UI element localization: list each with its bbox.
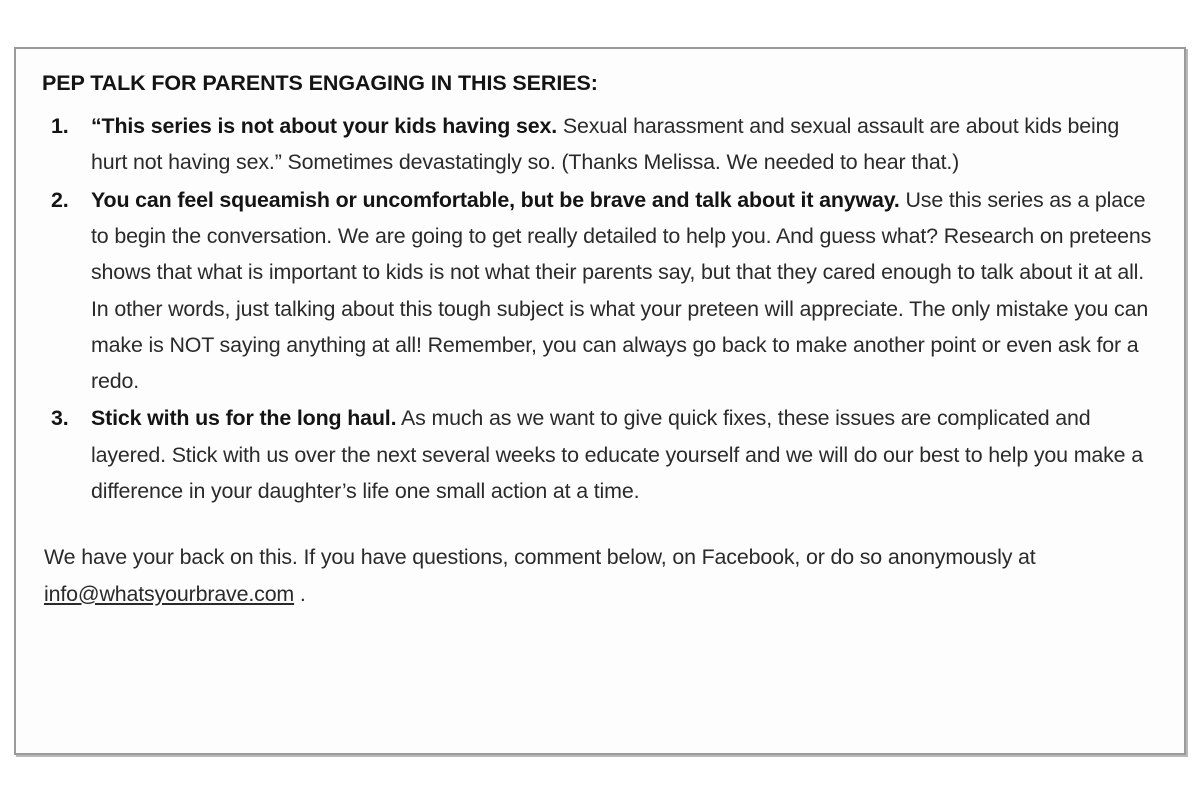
contact-email-link[interactable]: info@whatsyourbrave.com — [44, 582, 294, 606]
list-item-body: Use this series as a place to begin the … — [91, 188, 1151, 393]
list-item-lead: “This series is not about your kids havi… — [91, 114, 557, 138]
list-item-marker: 2. — [51, 182, 77, 218]
closing-paragraph: We have your back on this. If you have q… — [42, 539, 1158, 612]
pep-talk-list: 1.“This series is not about your kids ha… — [42, 108, 1158, 509]
list-item-lead: Stick with us for the long haul. — [91, 406, 396, 430]
closing-text-before-email: We have your back on this. If you have q… — [44, 545, 1036, 569]
page-root: PEP TALK FOR PARENTS ENGAGING IN THIS SE… — [0, 0, 1200, 800]
list-item-lead: You can feel squeamish or uncomfortable,… — [91, 188, 900, 212]
closing-text-after-email: . — [294, 582, 306, 606]
list-item-marker: 3. — [51, 400, 77, 436]
callout-content: PEP TALK FOR PARENTS ENGAGING IN THIS SE… — [16, 49, 1184, 612]
page-title: PEP TALK FOR PARENTS ENGAGING IN THIS SE… — [42, 69, 1158, 98]
list-item: 3.Stick with us for the long haul. As mu… — [42, 400, 1158, 509]
list-item: 1.“This series is not about your kids ha… — [42, 108, 1158, 181]
list-item: 2.You can feel squeamish or uncomfortabl… — [42, 182, 1158, 400]
pep-talk-callout-box: PEP TALK FOR PARENTS ENGAGING IN THIS SE… — [14, 47, 1186, 755]
list-item-marker: 1. — [51, 108, 77, 144]
